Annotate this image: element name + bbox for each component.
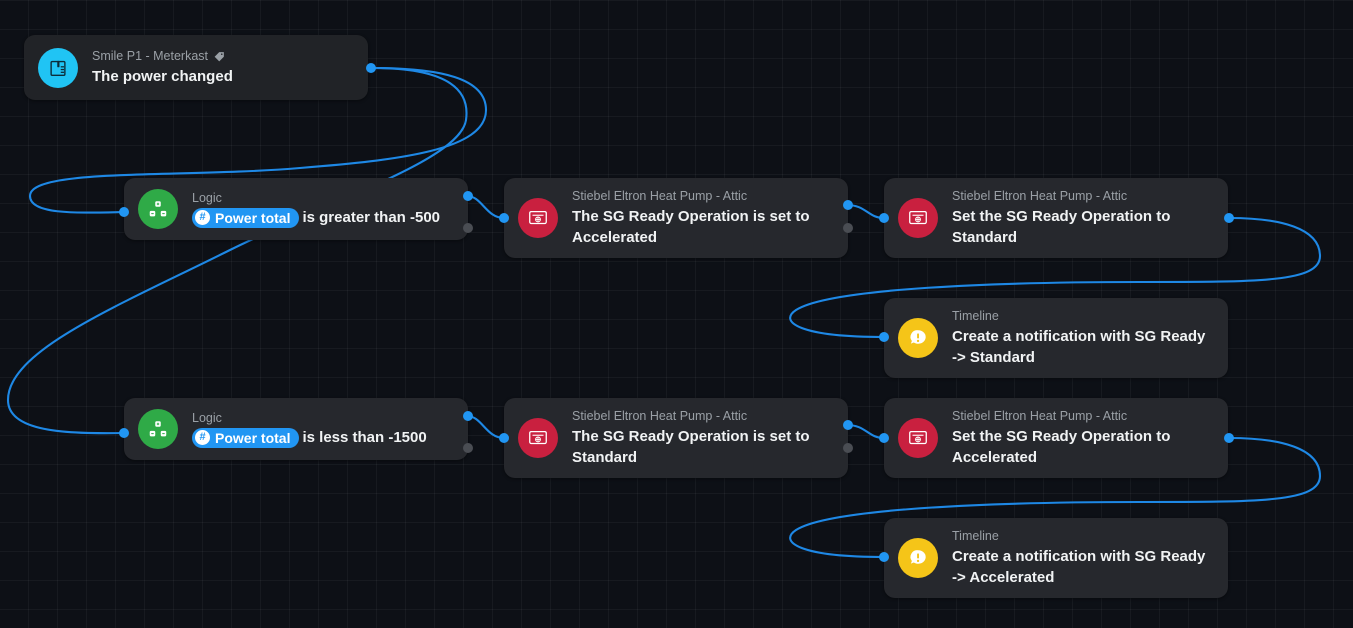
port-logic-low-true[interactable] bbox=[463, 411, 473, 421]
node-body: Stiebel Eltron Heat Pump - Attic Set the… bbox=[952, 403, 1212, 474]
node-title: The SG Ready Operation is set to Acceler… bbox=[572, 206, 832, 248]
entity-chip[interactable]: # Power total bbox=[192, 208, 299, 228]
node-subtitle: Timeline bbox=[952, 309, 1212, 324]
port-check-accelerated-in[interactable] bbox=[499, 213, 509, 223]
node-body: Stiebel Eltron Heat Pump - Attic The SG … bbox=[572, 403, 832, 474]
port-logic-high-false[interactable] bbox=[463, 223, 473, 233]
port-set-standard-in[interactable] bbox=[879, 213, 889, 223]
port-set-accelerated-out[interactable] bbox=[1224, 433, 1234, 443]
entity-chip-label: Power total bbox=[215, 429, 290, 447]
node-title: The SG Ready Operation is set to Standar… bbox=[572, 426, 832, 468]
hash-icon: # bbox=[195, 430, 210, 445]
node-subtitle-text: Stiebel Eltron Heat Pump - Attic bbox=[572, 189, 747, 204]
entity-chip-label: Power total bbox=[215, 209, 290, 227]
port-logic-low-in[interactable] bbox=[119, 428, 129, 438]
smile-meter-icon bbox=[38, 48, 78, 88]
heat-pump-icon bbox=[518, 198, 558, 238]
node-trigger-power-changed[interactable]: Smile P1 - Meterkast The power changed bbox=[24, 35, 368, 100]
node-subtitle: Stiebel Eltron Heat Pump - Attic bbox=[572, 189, 832, 204]
flow-canvas[interactable]: Smile P1 - Meterkast The power changed bbox=[0, 0, 1353, 628]
node-body: Logic # Power total is less than -1500 bbox=[192, 405, 427, 454]
port-set-standard-out[interactable] bbox=[1224, 213, 1234, 223]
node-logic-power-greater-than[interactable]: Logic # Power total is greater than -500 bbox=[124, 178, 468, 240]
wire-logic-high-to-check-accelerated bbox=[467, 196, 504, 218]
node-subtitle: Stiebel Eltron Heat Pump - Attic bbox=[572, 409, 832, 424]
entity-chip[interactable]: # Power total bbox=[192, 428, 299, 448]
node-set-sg-ready-accelerated[interactable]: Stiebel Eltron Heat Pump - Attic Set the… bbox=[884, 398, 1228, 478]
port-logic-high-in[interactable] bbox=[119, 207, 129, 217]
tag-icon bbox=[213, 50, 226, 63]
node-subtitle-text: Timeline bbox=[952, 309, 999, 324]
notification-bubble-icon bbox=[898, 538, 938, 578]
node-subtitle-text: Stiebel Eltron Heat Pump - Attic bbox=[952, 189, 1127, 204]
port-notify-accelerated-in[interactable] bbox=[879, 552, 889, 562]
wire-logic-low-to-check-standard bbox=[467, 416, 504, 438]
node-set-sg-ready-standard[interactable]: Stiebel Eltron Heat Pump - Attic Set the… bbox=[884, 178, 1228, 258]
heat-pump-icon bbox=[518, 418, 558, 458]
node-body: Stiebel Eltron Heat Pump - Attic Set the… bbox=[952, 183, 1212, 254]
node-body: Timeline Create a notification with SG R… bbox=[952, 303, 1212, 374]
port-check-standard-false[interactable] bbox=[843, 443, 853, 453]
node-condition-row: # Power total is greater than -500 bbox=[192, 208, 440, 228]
port-check-standard-true[interactable] bbox=[843, 420, 853, 430]
notification-bubble-icon bbox=[898, 318, 938, 358]
port-check-accelerated-true[interactable] bbox=[843, 200, 853, 210]
node-condition-row: # Power total is less than -1500 bbox=[192, 428, 427, 448]
node-subtitle-text: Stiebel Eltron Heat Pump - Attic bbox=[572, 409, 747, 424]
node-title: Set the SG Ready Operation to Standard bbox=[952, 206, 1212, 248]
node-subtitle: Timeline bbox=[952, 529, 1212, 544]
port-logic-low-false[interactable] bbox=[463, 443, 473, 453]
node-check-sg-ready-standard[interactable]: Stiebel Eltron Heat Pump - Attic The SG … bbox=[504, 398, 848, 478]
port-notify-standard-in[interactable] bbox=[879, 332, 889, 342]
heat-pump-icon bbox=[898, 198, 938, 238]
port-set-accelerated-in[interactable] bbox=[879, 433, 889, 443]
condition-text: is greater than -500 bbox=[302, 209, 440, 226]
port-trigger-out[interactable] bbox=[366, 63, 376, 73]
node-subtitle-text: Logic bbox=[192, 411, 222, 426]
port-logic-high-true[interactable] bbox=[463, 191, 473, 201]
node-title: The power changed bbox=[92, 66, 233, 87]
node-notify-sg-ready-accelerated[interactable]: Timeline Create a notification with SG R… bbox=[884, 518, 1228, 598]
heat-pump-icon bbox=[898, 418, 938, 458]
node-body: Stiebel Eltron Heat Pump - Attic The SG … bbox=[572, 183, 832, 254]
hash-icon: # bbox=[195, 210, 210, 225]
node-title: Create a notification with SG Ready -> S… bbox=[952, 326, 1212, 368]
node-body: Smile P1 - Meterkast The power changed bbox=[92, 43, 233, 93]
node-subtitle-text: Logic bbox=[192, 191, 222, 206]
condition-text: is less than -1500 bbox=[302, 429, 426, 446]
logic-blocks-icon bbox=[138, 189, 178, 229]
node-subtitle: Logic bbox=[192, 411, 427, 426]
node-subtitle-text: Stiebel Eltron Heat Pump - Attic bbox=[952, 409, 1127, 424]
node-subtitle: Smile P1 - Meterkast bbox=[92, 49, 233, 64]
logic-blocks-icon bbox=[138, 409, 178, 449]
node-subtitle: Logic bbox=[192, 191, 440, 206]
node-subtitle-text: Smile P1 - Meterkast bbox=[92, 49, 208, 64]
port-check-accelerated-false[interactable] bbox=[843, 223, 853, 233]
node-logic-power-less-than[interactable]: Logic # Power total is less than -1500 bbox=[124, 398, 468, 460]
node-subtitle: Stiebel Eltron Heat Pump - Attic bbox=[952, 189, 1212, 204]
port-check-standard-in[interactable] bbox=[499, 433, 509, 443]
node-subtitle-text: Timeline bbox=[952, 529, 999, 544]
node-body: Timeline Create a notification with SG R… bbox=[952, 523, 1212, 594]
node-title: Create a notification with SG Ready -> A… bbox=[952, 546, 1212, 588]
node-subtitle: Stiebel Eltron Heat Pump - Attic bbox=[952, 409, 1212, 424]
node-body: Logic # Power total is greater than -500 bbox=[192, 185, 440, 234]
wire-trigger-to-logic-low bbox=[8, 68, 467, 433]
node-check-sg-ready-accelerated[interactable]: Stiebel Eltron Heat Pump - Attic The SG … bbox=[504, 178, 848, 258]
node-notify-sg-ready-standard[interactable]: Timeline Create a notification with SG R… bbox=[884, 298, 1228, 378]
node-title: Set the SG Ready Operation to Accelerate… bbox=[952, 426, 1212, 468]
